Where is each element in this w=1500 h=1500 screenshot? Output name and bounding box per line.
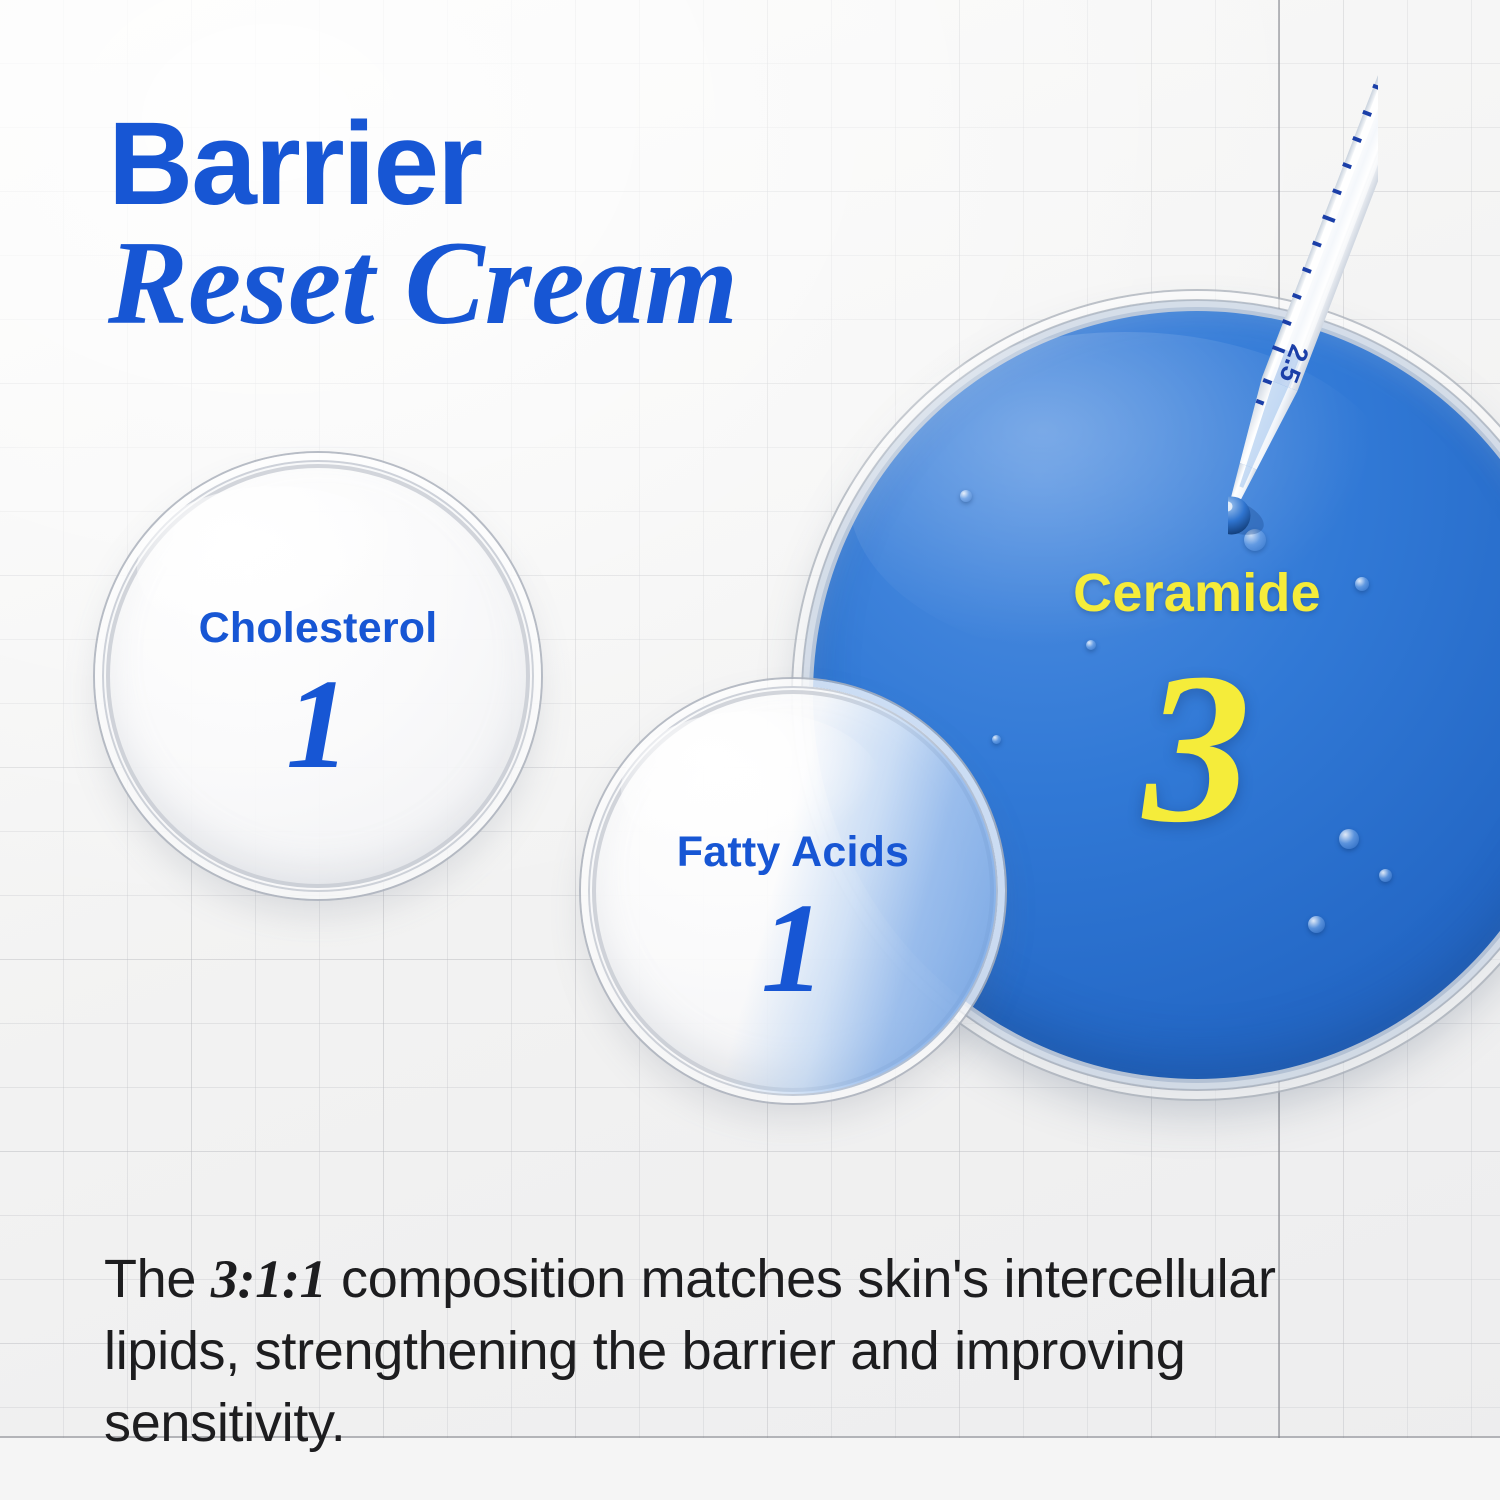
fluid-bubble (1308, 916, 1325, 933)
infographic-canvas: Barrier Reset Cream Ceramide 3 Cholester… (0, 0, 1500, 1500)
body-emphasis-ratio: 3:1:1 (211, 1249, 326, 1309)
dish-value-fatty-acids: 1 (588, 884, 998, 1012)
body-paragraph: The 3:1:1 composition matches skin's int… (104, 1244, 1284, 1459)
product-headline: Barrier Reset Cream (108, 104, 738, 346)
dish-label-cholesterol: Cholesterol (102, 604, 534, 653)
petri-dish-fatty-acids: Fatty Acids 1 (588, 686, 998, 1096)
fluid-bubble (960, 490, 972, 502)
droplet-impact (1244, 529, 1266, 551)
headline-line-2: Reset Cream (108, 220, 738, 346)
petri-dish-cholesterol: Cholesterol 1 (102, 460, 534, 892)
body-text-before: The (104, 1249, 211, 1309)
dish-value-cholesterol: 1 (102, 660, 534, 788)
dish-label-ceramide: Ceramide (802, 562, 1500, 624)
headline-line-1: Barrier (108, 104, 738, 224)
fluid-bubble (1379, 869, 1392, 882)
dish-label-fatty-acids: Fatty Acids (588, 828, 998, 877)
